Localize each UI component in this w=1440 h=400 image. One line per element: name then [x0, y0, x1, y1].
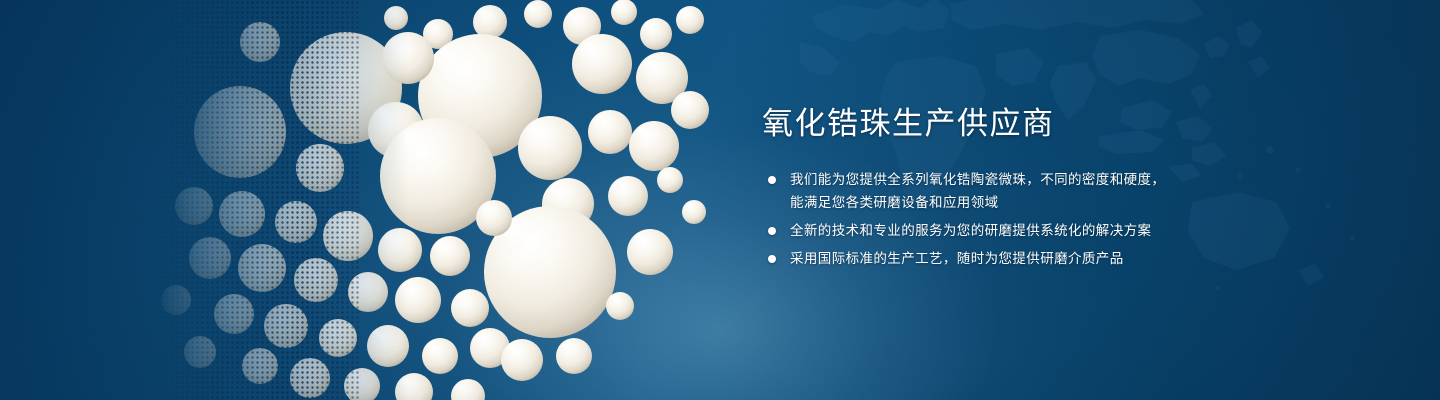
bullet-item-3: 采用国际标准的生产工艺，随时为您提供研磨介质产品 — [762, 247, 1362, 270]
banner-bullet-list: 我们能为您提供全系列氧化锆陶瓷微珠，不同的密度和硬度， 能满足您各类研磨设备和应… — [762, 168, 1362, 270]
bullet-1-line-2: 能满足您各类研磨设备和应用领域 — [790, 191, 1362, 214]
hero-banner: 氧化锆珠生产供应商 我们能为您提供全系列氧化锆陶瓷微珠，不同的密度和硬度， 能满… — [0, 0, 1440, 400]
bullet-3-line-1: 采用国际标准的生产工艺，随时为您提供研磨介质产品 — [790, 251, 1124, 266]
bullet-2-line-1: 全新的技术和专业的服务为您的研磨提供系统化的解决方案 — [790, 223, 1151, 238]
bullet-item-2: 全新的技术和专业的服务为您的研磨提供系统化的解决方案 — [762, 219, 1362, 242]
bullet-1-line-1: 我们能为您提供全系列氧化锆陶瓷微珠，不同的密度和硬度， — [790, 172, 1165, 187]
bullet-dot-icon — [768, 227, 776, 235]
banner-copy: 氧化锆珠生产供应商 我们能为您提供全系列氧化锆陶瓷微珠，不同的密度和硬度， 能满… — [762, 104, 1362, 275]
bullet-dot-icon — [768, 176, 776, 184]
banner-headline: 氧化锆珠生产供应商 — [762, 104, 1362, 144]
bullet-dot-icon — [768, 255, 776, 263]
bullet-item-1: 我们能为您提供全系列氧化锆陶瓷微珠，不同的密度和硬度， 能满足您各类研磨设备和应… — [762, 168, 1362, 214]
